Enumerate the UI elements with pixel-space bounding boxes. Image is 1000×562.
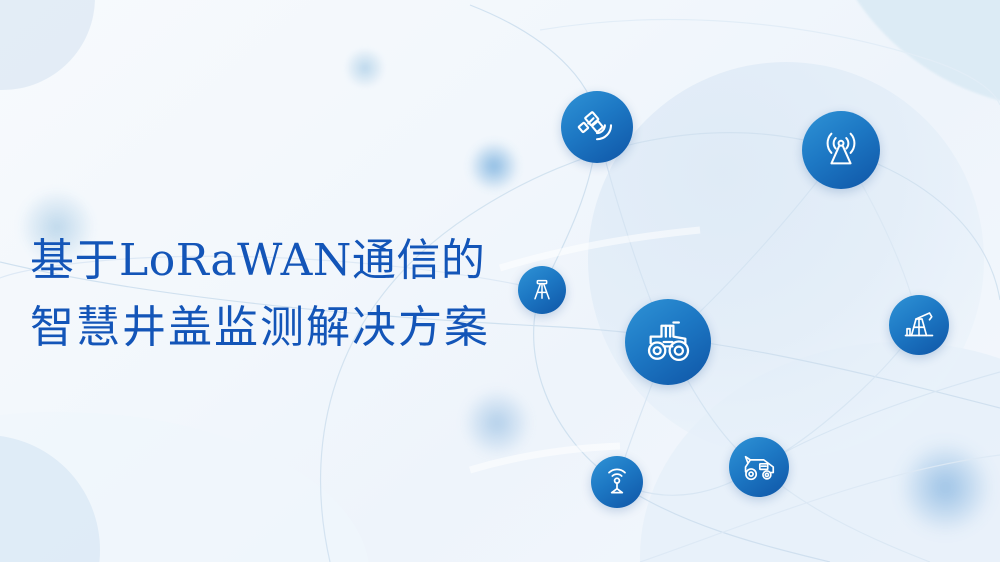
radio-tower-icon [818,127,864,173]
tractor-icon [642,316,694,368]
satellite-icon [576,106,618,148]
oil-pump-icon [901,307,937,343]
node-satellite[interactable] [561,91,633,163]
page-title: 基于LoRaWAN通信的 智慧井盖监测解决方案 [30,228,570,362]
title-line-2: 智慧井盖监测解决方案 [30,295,570,362]
node-harvester[interactable] [729,437,789,497]
node-radio-tower[interactable] [802,111,880,189]
node-tractor[interactable] [625,299,711,385]
harvester-icon [740,448,778,486]
signal-beacon-icon [601,466,633,498]
node-signal-beacon[interactable] [591,456,643,508]
slide-canvas: 基于LoRaWAN通信的 智慧井盖监测解决方案 [0,0,1000,562]
title-line-1: 基于LoRaWAN通信的 [30,228,570,295]
node-oil-pump[interactable] [889,295,949,355]
